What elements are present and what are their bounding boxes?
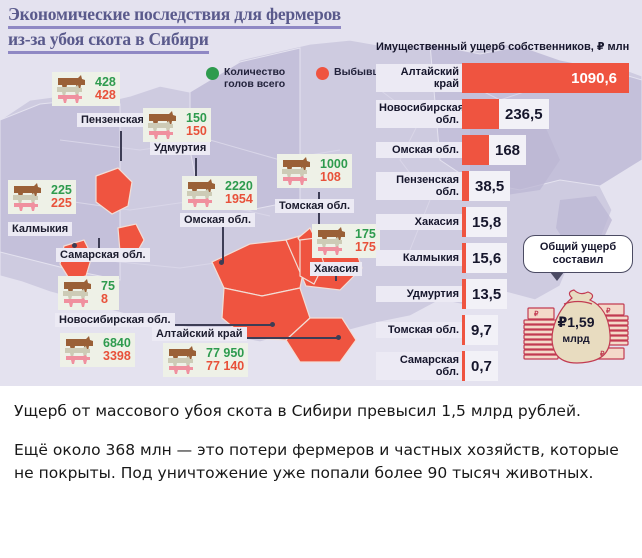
svg-text:₽: ₽ bbox=[600, 350, 605, 358]
title-line-1: Экономические последствия для фермеров bbox=[8, 4, 341, 24]
livestock-icon bbox=[60, 278, 98, 308]
bar-label: Пензенская обл. bbox=[376, 172, 462, 200]
bar-label: Томская обл. bbox=[376, 322, 462, 338]
bar-row: Удмуртия 13,5 bbox=[376, 278, 507, 310]
count-card-novosibirsk-small: 75 8 bbox=[58, 276, 119, 310]
article-paragraph-2: Ещё около 368 млн — это потери фермеров … bbox=[14, 439, 628, 485]
livestock-icon bbox=[165, 345, 203, 375]
bar-value: 9,7 bbox=[465, 315, 498, 345]
bar-row: Пензенская обл. 38,5 bbox=[376, 170, 510, 202]
bar-value: 236,5 bbox=[499, 99, 549, 129]
map-pin-omsk bbox=[219, 260, 224, 265]
bar-fill bbox=[462, 171, 469, 201]
count-lost-altai: 77 140 bbox=[206, 360, 244, 373]
map-label-altai: Алтайский край bbox=[152, 327, 247, 341]
bar-value: 38,5 bbox=[469, 171, 510, 201]
count-lost-kalmykia: 225 bbox=[51, 197, 72, 210]
total-caption-line-1: Общий ущерб bbox=[540, 241, 616, 253]
count-card-kalmykia: 225 225 bbox=[8, 180, 76, 214]
livestock-icon bbox=[62, 335, 100, 365]
bar-value: 0,7 bbox=[465, 351, 498, 381]
total-amount-value: ₽1,59 bbox=[558, 314, 595, 330]
region-kalmykia bbox=[96, 168, 132, 214]
bar-label: Удмуртия bbox=[376, 286, 462, 302]
count-card-novosibirsk: 6840 3398 bbox=[60, 333, 135, 367]
bar-row: Омская обл. 168 bbox=[376, 134, 526, 166]
bar-row: Новосибирская обл. 236,5 bbox=[376, 98, 549, 130]
svg-text:₽: ₽ bbox=[606, 307, 611, 315]
bar-label: Самарская обл. bbox=[376, 352, 462, 380]
count-lost-novosibirsk: 3398 bbox=[103, 350, 131, 363]
count-lost-omsk: 1954 bbox=[225, 193, 253, 206]
livestock-icon bbox=[314, 226, 352, 256]
total-damage-amount: ₽1,59 млрд bbox=[547, 315, 605, 347]
map-label-kalmykia: Калмыкия bbox=[8, 222, 72, 236]
bar-value: 1090,6 bbox=[557, 63, 623, 93]
bar-row: Хакасия 15,8 bbox=[376, 206, 507, 238]
map-pin-novosibirsk bbox=[270, 322, 275, 327]
count-lost-udmurtia: 150 bbox=[186, 125, 207, 138]
svg-text:₽: ₽ bbox=[534, 310, 539, 318]
bar-row: Алтайский край 1090,6 bbox=[376, 62, 623, 94]
green-circle-icon bbox=[206, 67, 219, 80]
map-label-tomsk: Томская обл. bbox=[275, 199, 354, 213]
livestock-icon bbox=[279, 156, 317, 186]
leader-line-penza bbox=[120, 131, 122, 161]
count-lost-tomsk: 108 bbox=[320, 171, 348, 184]
livestock-icon bbox=[10, 182, 48, 212]
map-pin-altai bbox=[336, 335, 341, 340]
count-card-udmurtia: 150 150 bbox=[143, 108, 211, 142]
count-card-omsk: 2220 1954 bbox=[182, 176, 257, 210]
livestock-icon bbox=[145, 110, 183, 140]
title-line-2: из-за убоя скота в Сибири bbox=[8, 29, 209, 49]
bar-label: Алтайский край bbox=[376, 64, 462, 92]
bar-label: Хакасия bbox=[376, 214, 462, 230]
total-caption-line-2: составил bbox=[553, 254, 604, 266]
article-paragraph-1: Ущерб от массового убоя скота в Сибири п… bbox=[14, 400, 628, 423]
map-label-udmurtia: Удмуртия bbox=[150, 141, 210, 155]
bar-value: 15,6 bbox=[466, 243, 507, 273]
bar-row: Калмыкия 15,6 bbox=[376, 242, 507, 274]
legend-label-total: Количество голов всего bbox=[224, 66, 302, 90]
bar-row: Томская обл. 9,7 bbox=[376, 314, 498, 346]
map-label-khakassia: Хакасия bbox=[310, 262, 362, 276]
leader-line-altai bbox=[243, 337, 339, 339]
livestock-icon bbox=[184, 178, 222, 208]
chart-title: Имущественный ущерб собственников, ₽ млн bbox=[376, 40, 629, 53]
bar-value: 13,5 bbox=[466, 279, 507, 309]
count-card-khakassia: 175 175 bbox=[312, 224, 380, 258]
red-circle-icon bbox=[316, 67, 329, 80]
count-lost-khakassia: 175 bbox=[355, 241, 376, 254]
map-label-novosibirsk: Новосибирская обл. bbox=[55, 313, 175, 327]
legend: Количество голов всего Выбывшие bbox=[206, 66, 394, 90]
map-label-samara: Самарская обл. bbox=[56, 248, 150, 262]
count-card-penza: 428 428 bbox=[52, 72, 120, 106]
count-card-altai: 77 950 77 140 bbox=[163, 343, 248, 377]
bar-label: Новосибирская обл. bbox=[376, 100, 462, 128]
bar-label: Калмыкия bbox=[376, 250, 462, 266]
bar-label: Омская обл. bbox=[376, 142, 462, 158]
count-lost-novosibirsk-small: 8 bbox=[101, 293, 115, 306]
bar-value: 15,8 bbox=[466, 207, 507, 237]
bar-fill bbox=[462, 135, 489, 165]
bar-fill bbox=[462, 99, 499, 129]
total-damage-callout: Общий ущерб составил bbox=[523, 235, 633, 273]
legend-item-total: Количество голов всего bbox=[206, 66, 302, 90]
bar-value: 168 bbox=[489, 135, 526, 165]
total-amount-unit: млрд bbox=[562, 333, 589, 345]
map-label-omsk: Омская обл. bbox=[180, 213, 255, 227]
count-lost-penza: 428 bbox=[95, 89, 116, 102]
bar-row: Самарская обл. 0,7 bbox=[376, 350, 498, 382]
infographic-panel: Экономические последствия для фермеров и… bbox=[0, 0, 642, 386]
livestock-icon bbox=[54, 74, 92, 104]
article-body: Ущерб от массового убоя скота в Сибири п… bbox=[0, 386, 642, 558]
count-card-tomsk: 1000 108 bbox=[277, 154, 352, 188]
page-title: Экономические последствия для фермеров и… bbox=[8, 4, 428, 54]
